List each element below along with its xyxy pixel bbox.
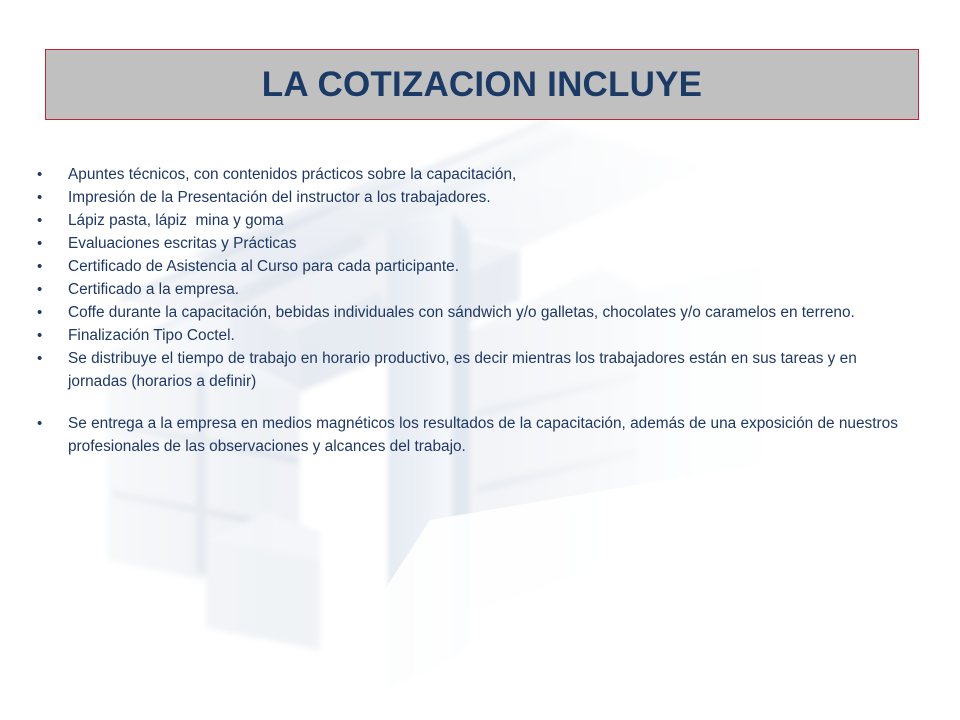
page-title: LA COTIZACION INCLUYE bbox=[262, 67, 702, 102]
list-spacer bbox=[30, 393, 930, 412]
bullet-dot-icon: • bbox=[30, 412, 68, 435]
list-item-label: Apuntes técnicos, con contenidos práctic… bbox=[68, 163, 913, 186]
list-item: •Se entrega a la empresa en medios magné… bbox=[30, 412, 930, 458]
bullet-list: •Apuntes técnicos, con contenidos prácti… bbox=[30, 163, 930, 458]
list-item-label: Coffe durante la capacitación, bebidas i… bbox=[68, 301, 913, 324]
bullet-dot-icon: • bbox=[30, 232, 68, 255]
list-item: •Certificado de Asistencia al Curso para… bbox=[30, 255, 930, 278]
list-item-label: Finalización Tipo Coctel. bbox=[68, 324, 913, 347]
bullet-dot-icon: • bbox=[30, 163, 68, 186]
bullet-dot-icon: • bbox=[30, 301, 68, 324]
bullet-dot-icon: • bbox=[30, 209, 68, 232]
list-item: •Coffe durante la capacitación, bebidas … bbox=[30, 301, 930, 324]
list-item: •Finalización Tipo Coctel. bbox=[30, 324, 930, 347]
list-item: •Impresión de la Presentación del instru… bbox=[30, 186, 930, 209]
list-item-label: Impresión de la Presentación del instruc… bbox=[68, 186, 913, 209]
bullet-dot-icon: • bbox=[30, 347, 68, 370]
bullet-dot-icon: • bbox=[30, 186, 68, 209]
bullet-dot-icon: • bbox=[30, 278, 68, 301]
list-item: •Certificado a la empresa. bbox=[30, 278, 930, 301]
slide-title-box: LA COTIZACION INCLUYE bbox=[45, 49, 919, 120]
list-item: •Lápiz pasta, lápiz mina y goma bbox=[30, 209, 930, 232]
list-item-label: Se entrega a la empresa en medios magnét… bbox=[68, 412, 913, 458]
bullet-dot-icon: • bbox=[30, 324, 68, 347]
list-item: •Apuntes técnicos, con contenidos prácti… bbox=[30, 163, 930, 186]
bullet-dot-icon: • bbox=[30, 255, 68, 278]
list-item: •Evaluaciones escritas y Prácticas bbox=[30, 232, 930, 255]
list-item-label: Certificado de Asistencia al Curso para … bbox=[68, 255, 913, 278]
list-item-label: Evaluaciones escritas y Prácticas bbox=[68, 232, 913, 255]
presentation-slide: LA COTIZACION INCLUYE •Apuntes técnicos,… bbox=[0, 0, 960, 720]
list-item-label: Se distribuye el tiempo de trabajo en ho… bbox=[68, 347, 913, 393]
list-item: •Se distribuye el tiempo de trabajo en h… bbox=[30, 347, 930, 393]
list-item-label: Certificado a la empresa. bbox=[68, 278, 913, 301]
list-item-label: Lápiz pasta, lápiz mina y goma bbox=[68, 209, 913, 232]
